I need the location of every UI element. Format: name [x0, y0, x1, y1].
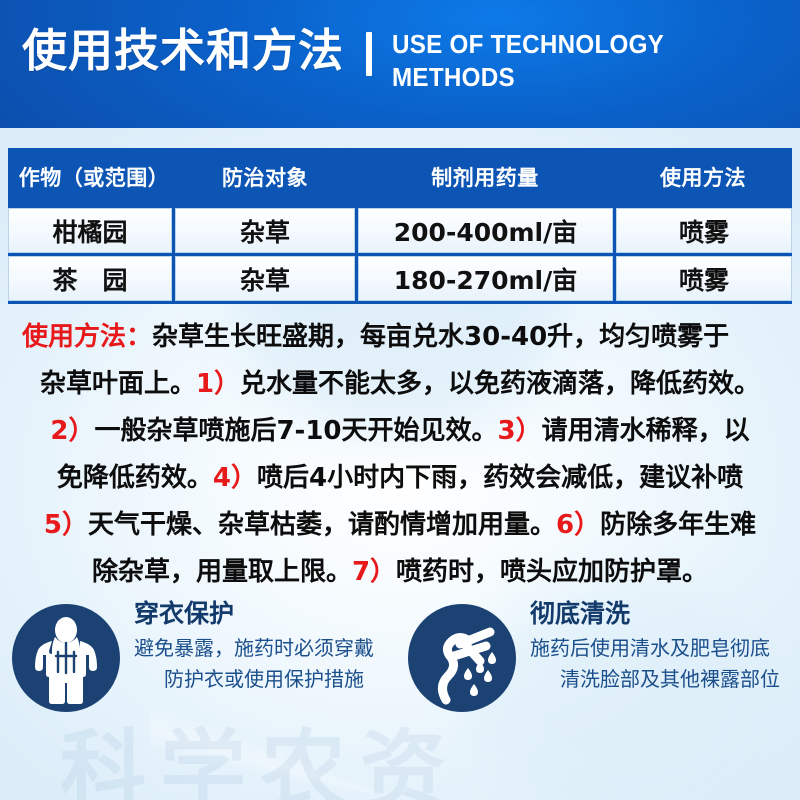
table-cell-target: 杂草 — [175, 256, 355, 301]
table-row: 茶 园 杂草 180-270ml/亩 喷雾 — [8, 256, 792, 301]
safety-text-protective-clothing: 穿衣保护 避免暴露，施药时必须穿戴 防护衣或使用保护措施 — [134, 598, 374, 695]
table-header-dosage: 制剂用药量 — [356, 148, 614, 205]
table-header-target: 防治对象 — [174, 148, 356, 205]
safety-description-line2: 清洗脸部及其他裸露部位 — [530, 664, 780, 695]
protective-clothing-icon — [12, 604, 120, 712]
usage-marker-3: 3） — [498, 416, 542, 446]
table-cell-dosage: 180-270ml/亩 — [358, 256, 613, 301]
table-cell-dosage: 200-400ml/亩 — [358, 208, 613, 253]
usage-line-1: 使用方法：杂草生长旺盛期，每亩兑水30-40升，均匀喷雾于 — [14, 314, 786, 361]
usage-line-6-b: 喷药时，喷头应加防护罩。 — [396, 557, 708, 587]
shower-wash-icon — [408, 604, 516, 712]
safety-description-line2: 防护衣或使用保护措施 — [134, 664, 374, 695]
poster-root: 科学农资 使用技术和方法 USE OF TECHNOLOGY METHODS 作… — [0, 0, 800, 800]
usage-line-3: 2）一般杂草喷施后7-10天开始见效。3）请用清水稀释，以 — [14, 408, 786, 455]
header-banner-inner: 使用技术和方法 USE OF TECHNOLOGY METHODS — [22, 24, 685, 95]
banner-title-chinese: 使用技术和方法 — [22, 24, 344, 77]
table-cell-method: 喷雾 — [616, 208, 792, 253]
usage-line-5-a: 天气干燥、杂草枯萎，请酌情增加用量。 — [88, 510, 556, 540]
usage-marker-1: 1） — [196, 369, 240, 399]
usage-line-2-b: 兑水量不能太多，以免药液滴落，降低药效。 — [240, 369, 760, 399]
usage-line-2: 杂草叶面上。1）兑水量不能太多，以免药液滴落，降低药效。 — [14, 361, 786, 408]
usage-line-4: 免降低药效。4）喷后4小时内下雨，药效会减低，建议补喷 — [14, 455, 786, 502]
usage-line-5-b: 防除多年生难 — [600, 510, 756, 540]
banner-divider-bar — [366, 32, 372, 76]
safety-description-line1: 避免暴露，施药时必须穿戴 — [134, 633, 374, 664]
safety-item-protective-clothing: 穿衣保护 避免暴露，施药时必须穿戴 防护衣或使用保护措施 — [0, 598, 400, 728]
usage-label: 使用方法： — [22, 322, 152, 352]
usage-line-3-a: 一般杂草喷施后7-10天开始见效。 — [94, 416, 497, 446]
usage-line-3-b: 请用清水稀释，以 — [542, 416, 750, 446]
usage-marker-2: 2） — [50, 416, 94, 446]
usage-line-2-a: 杂草叶面上。 — [40, 369, 196, 399]
header-banner: 使用技术和方法 USE OF TECHNOLOGY METHODS — [0, 0, 800, 128]
usage-line-5: 5）天气干燥、杂草枯萎，请酌情增加用量。6）防除多年生难 — [14, 502, 786, 549]
safety-text-thorough-wash: 彻底清洗 施药后使用清水及肥皂彻底 清洗脸部及其他裸露部位 — [530, 598, 780, 695]
safety-title: 彻底清洗 — [530, 600, 780, 629]
safety-description-line1: 施药后使用清水及肥皂彻底 — [530, 633, 780, 664]
table-header-method: 使用方法 — [614, 148, 792, 205]
usage-marker-6: 6） — [556, 510, 600, 540]
dosage-table: 作物（或范围） 防治对象 制剂用药量 使用方法 柑橘园 杂草 200-400ml… — [8, 148, 792, 304]
table-cell-crop: 柑橘园 — [8, 208, 172, 253]
usage-marker-5: 5） — [44, 510, 88, 540]
table-cell-method: 喷雾 — [616, 256, 792, 301]
table-row: 柑橘园 杂草 200-400ml/亩 喷雾 — [8, 208, 792, 253]
usage-line-4-a: 免降低药效。 — [57, 463, 213, 493]
usage-instructions: 使用方法：杂草生长旺盛期，每亩兑水30-40升，均匀喷雾于 杂草叶面上。1）兑水… — [14, 314, 786, 596]
table-header-row: 作物（或范围） 防治对象 制剂用药量 使用方法 — [8, 148, 792, 205]
usage-line-6: 除杂草，用量取上限。7）喷药时，喷头应加防护罩。 — [14, 549, 786, 596]
banner-title-english-line1: USE OF TECHNOLOGY — [392, 28, 664, 61]
safety-title: 穿衣保护 — [134, 600, 374, 629]
banner-title-english: USE OF TECHNOLOGY METHODS — [392, 24, 664, 95]
table-header-crop: 作物（或范围） — [8, 148, 174, 205]
table-cell-crop: 茶 园 — [8, 256, 172, 301]
usage-line-6-a: 除杂草，用量取上限。 — [92, 557, 352, 587]
usage-line-1-text: 杂草生长旺盛期，每亩兑水30-40升，均匀喷雾于 — [152, 322, 729, 352]
safety-section: 穿衣保护 避免暴露，施药时必须穿戴 防护衣或使用保护措施 — [0, 598, 800, 728]
banner-title-english-line2: METHODS — [392, 61, 664, 94]
usage-marker-4: 4） — [213, 463, 257, 493]
table-cell-target: 杂草 — [175, 208, 355, 253]
usage-line-4-b: 喷后4小时内下雨，药效会减低，建议补喷 — [257, 463, 743, 493]
safety-item-thorough-wash: 彻底清洗 施药后使用清水及肥皂彻底 清洗脸部及其他裸露部位 — [400, 598, 800, 728]
usage-marker-7: 7） — [352, 557, 396, 587]
